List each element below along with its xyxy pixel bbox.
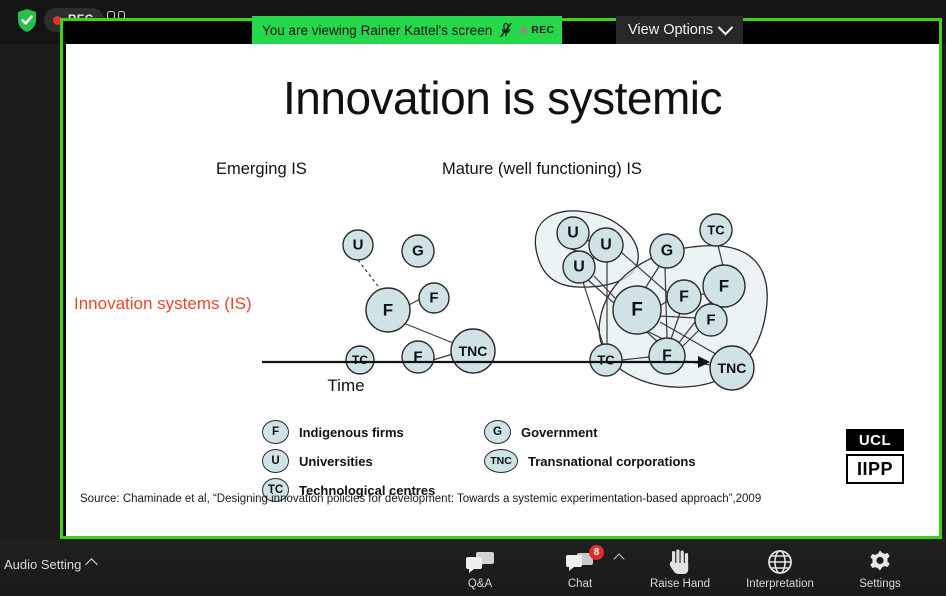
logo-iipp-text: IIPP [846, 454, 904, 484]
legend-row: U Universities TNC Transnational corpora… [262, 449, 782, 478]
toolbar-label-raise-hand: Raise Hand [650, 578, 710, 590]
node-u: U [589, 228, 623, 262]
svg-text:F: F [383, 301, 393, 320]
toolbar-item-qa[interactable]: Q&A [430, 543, 530, 596]
chat-unread-badge: 8 [589, 545, 604, 560]
toolbar-label-qa: Q&A [468, 578, 492, 590]
ucl-iipp-logo: UCL IIPP [846, 429, 904, 485]
microphone-muted-icon [499, 22, 513, 38]
node-f: F [366, 288, 410, 332]
meeting-controls-toolbar: Audio Setting Q&A [0, 539, 946, 596]
svg-text:U: U [573, 259, 585, 276]
toolbar-items: Q&A 8 Chat [430, 543, 930, 596]
mature-is-panel: U U U G TC F F F [535, 211, 767, 390]
node-f: F [649, 338, 685, 374]
legend-row: F Indigenous firms G Government [262, 420, 782, 449]
legend-label-universities: Universities [299, 454, 373, 469]
svg-text:F: F [631, 300, 643, 321]
raise-hand-icon [668, 549, 692, 575]
node-tc: TC [346, 346, 374, 374]
legend-item-transnational-corporations: TNC Transnational corporations [484, 449, 696, 473]
logo-ucl-text: UCL [846, 429, 904, 451]
toolbar-label-settings: Settings [859, 578, 901, 590]
audio-setting-label: Audio Setting [4, 557, 81, 572]
node-f: F [402, 341, 434, 373]
svg-text:TNC: TNC [459, 343, 488, 359]
node-tc: TC [700, 214, 732, 246]
node-f: F [695, 304, 727, 336]
toolbar-item-chat[interactable]: 8 Chat [530, 543, 630, 596]
svg-text:F: F [719, 277, 729, 296]
legend-item-universities: U Universities [262, 449, 373, 473]
node-g: G [402, 235, 434, 267]
legend-chip-f: F [262, 420, 289, 444]
svg-text:TC: TC [352, 353, 368, 367]
toolbar-label-interpretation: Interpretation [746, 578, 814, 590]
legend-label-transnational-corporations: Transnational corporations [528, 454, 696, 469]
node-u: U [343, 230, 373, 260]
shield-check-icon[interactable] [16, 8, 38, 33]
emerging-is-panel: U G F F TC F TNC [343, 230, 495, 374]
gear-icon [867, 549, 893, 575]
svg-text:U: U [600, 237, 612, 254]
chevron-down-icon [718, 19, 734, 35]
node-u: U [563, 251, 595, 283]
audio-setting-button[interactable]: Audio Setting [4, 557, 96, 572]
legend-chip-g: G [484, 420, 511, 444]
node-tnc: TNC [451, 329, 495, 373]
node-g: G [650, 234, 684, 268]
chat-caret-up-icon[interactable] [613, 553, 624, 564]
svg-text:TNC: TNC [718, 360, 747, 376]
screen-share-banner: You are viewing Rainer Kattel's screen R… [252, 16, 562, 44]
svg-text:U: U [353, 237, 364, 254]
node-f: F [419, 283, 449, 313]
time-axis-label: Time [66, 376, 626, 396]
legend-chip-tnc: TNC [484, 449, 518, 473]
record-dot-icon [520, 27, 527, 34]
legend-item-government: G Government [484, 420, 598, 444]
node-f: F [703, 265, 745, 307]
banner-rec-label: REC [531, 24, 554, 36]
presentation-slide: Innovation is systemic Emerging IS Matur… [66, 44, 939, 536]
node-tnc: TNC [710, 346, 754, 390]
node-f: F [613, 286, 661, 334]
banner-recording-badge: REC [520, 24, 554, 36]
svg-text:F: F [429, 290, 438, 307]
toolbar-label-chat: Chat [568, 578, 592, 590]
globe-icon [767, 549, 793, 575]
view-options-label: View Options [628, 22, 713, 38]
view-options-button[interactable]: View Options [616, 16, 743, 44]
legend-chip-u: U [262, 449, 289, 473]
zoom-meeting-window: REC Innovation is systemic Emerging IS M… [0, 0, 946, 596]
svg-text:TC: TC [597, 353, 615, 368]
svg-text:U: U [567, 225, 579, 242]
legend-label-indigenous-firms: Indigenous firms [299, 425, 404, 440]
source-citation: Source: Chaminade et al, “Designing inno… [80, 493, 761, 505]
node-f: F [667, 280, 701, 314]
toolbar-item-raise-hand[interactable]: Raise Hand [630, 543, 730, 596]
legend-item-indigenous-firms: F Indigenous firms [262, 420, 404, 444]
screen-share-banner-text: You are viewing Rainer Kattel's screen [262, 23, 492, 38]
chat-bubble-icon: 8 [565, 549, 595, 575]
node-tc: TC [590, 344, 622, 376]
svg-text:TC: TC [707, 223, 725, 238]
toolbar-item-settings[interactable]: Settings [830, 543, 930, 596]
caret-up-icon [85, 558, 98, 571]
shared-screen-area: Innovation is systemic Emerging IS Matur… [63, 21, 939, 536]
svg-text:G: G [661, 243, 673, 260]
svg-text:F: F [679, 289, 689, 306]
node-u: U [557, 217, 589, 249]
toolbar-item-interpretation[interactable]: Interpretation [730, 543, 830, 596]
qa-bubbles-icon [465, 549, 495, 575]
svg-text:G: G [412, 243, 424, 260]
svg-text:F: F [706, 312, 715, 329]
legend-label-government: Government [521, 425, 598, 440]
